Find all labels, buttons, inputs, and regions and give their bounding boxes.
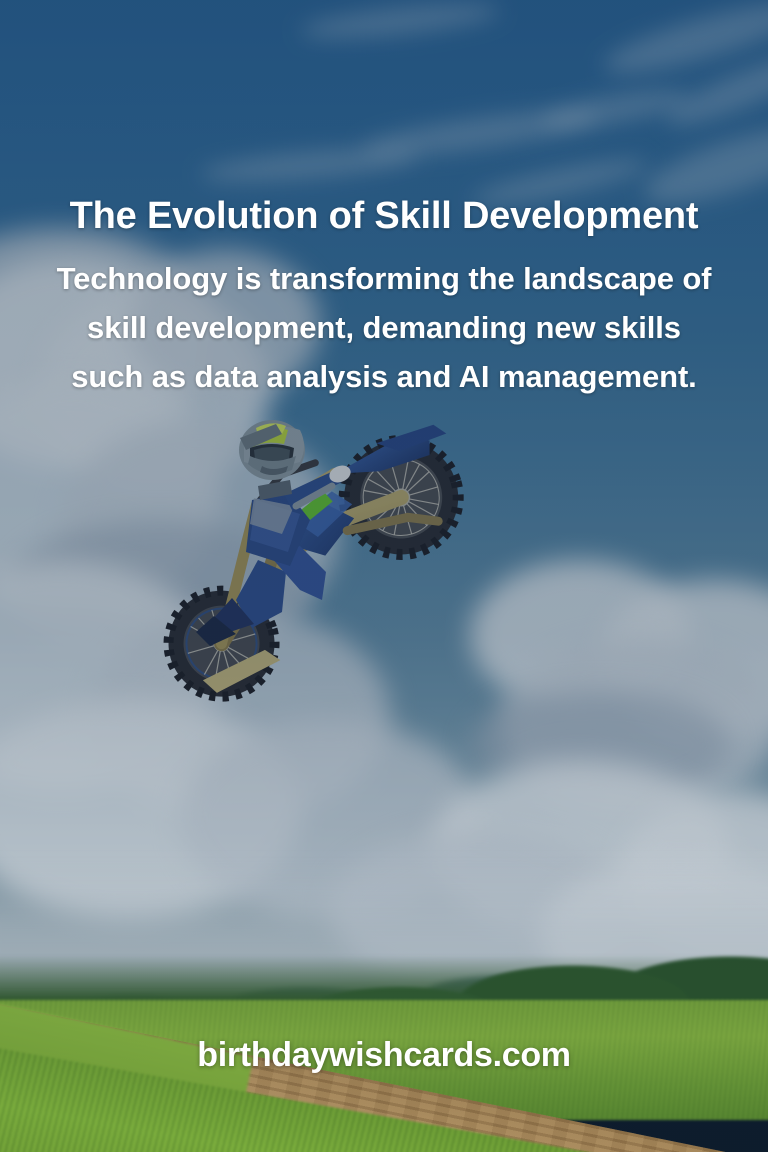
site-watermark[interactable]: birthdaywishcards.com: [0, 1036, 768, 1075]
motocross-rider: [0, 0, 768, 1152]
helmet: [239, 420, 305, 480]
page-title: The Evolution of Skill Development: [56, 192, 712, 241]
text-block: The Evolution of Skill Development Techn…: [0, 192, 768, 402]
background-photo: [0, 0, 768, 1152]
page-subtitle: Technology is transforming the landscape…: [56, 255, 712, 402]
social-quote-card: The Evolution of Skill Development Techn…: [0, 0, 768, 1152]
